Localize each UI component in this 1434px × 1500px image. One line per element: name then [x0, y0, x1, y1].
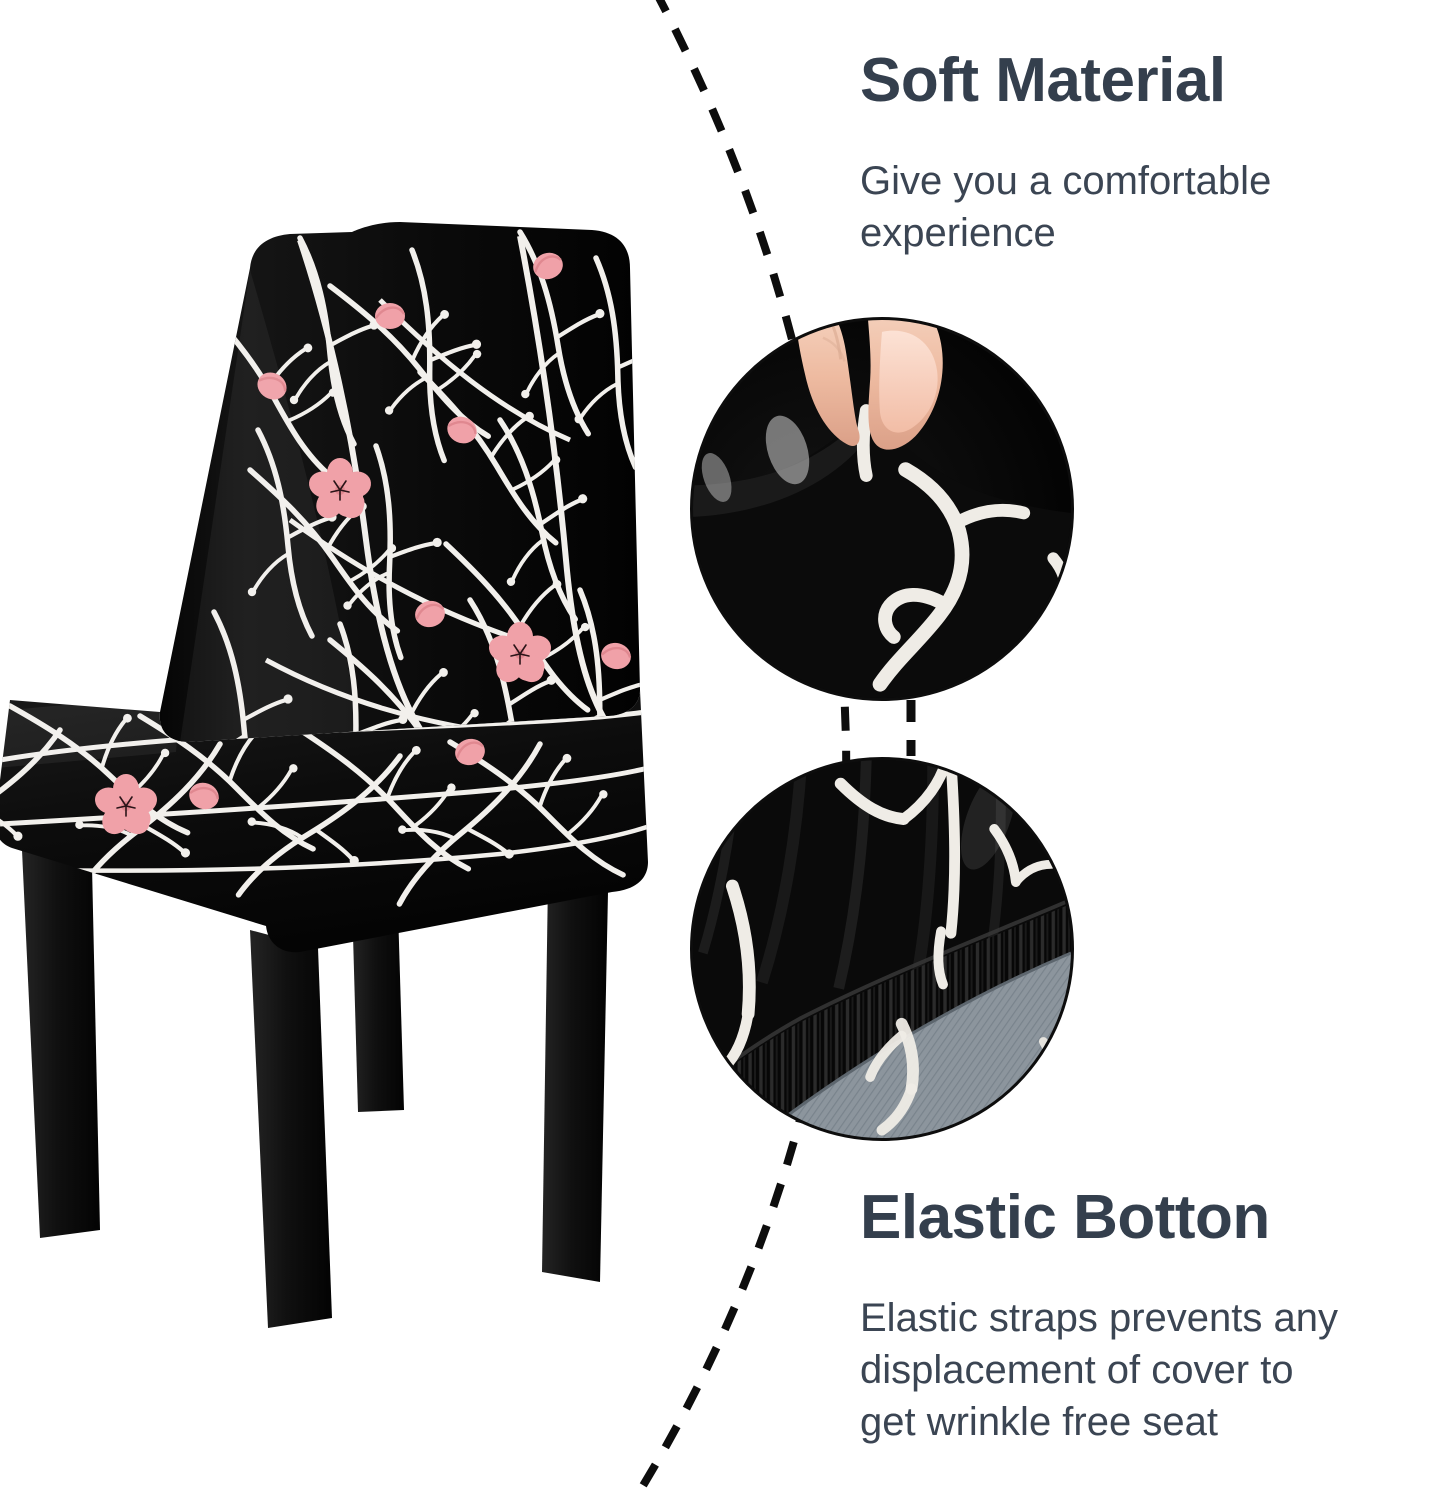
feature-title-soft-material: Soft Material [860, 48, 1420, 113]
feature-description-line: Elastic straps prevents any [860, 1292, 1434, 1344]
feature-description-line: Give you a comfortable [860, 155, 1420, 207]
elastic-hem-icon [690, 757, 1074, 1141]
feature-description-soft-material: Give you a comfortable experience [860, 155, 1420, 259]
feature-block-elastic-botton: Elastic Botton Elastic straps prevents a… [860, 1185, 1434, 1448]
pinched-fabric-icon [690, 317, 1074, 701]
feature-title-elastic-botton: Elastic Botton [860, 1185, 1434, 1250]
dashed-guide-curve [628, 0, 846, 1500]
feature-description-line: experience [860, 207, 1420, 259]
feature-block-soft-material: Soft Material Give you a comfortable exp… [860, 48, 1420, 259]
infographic-canvas: Soft Material Give you a comfortable exp… [0, 0, 1434, 1500]
feature-description-elastic-botton: Elastic straps prevents any displacement… [860, 1292, 1434, 1448]
feature-description-line: displacement of cover to [860, 1344, 1434, 1396]
feature-description-line: get wrinkle free seat [860, 1396, 1434, 1448]
